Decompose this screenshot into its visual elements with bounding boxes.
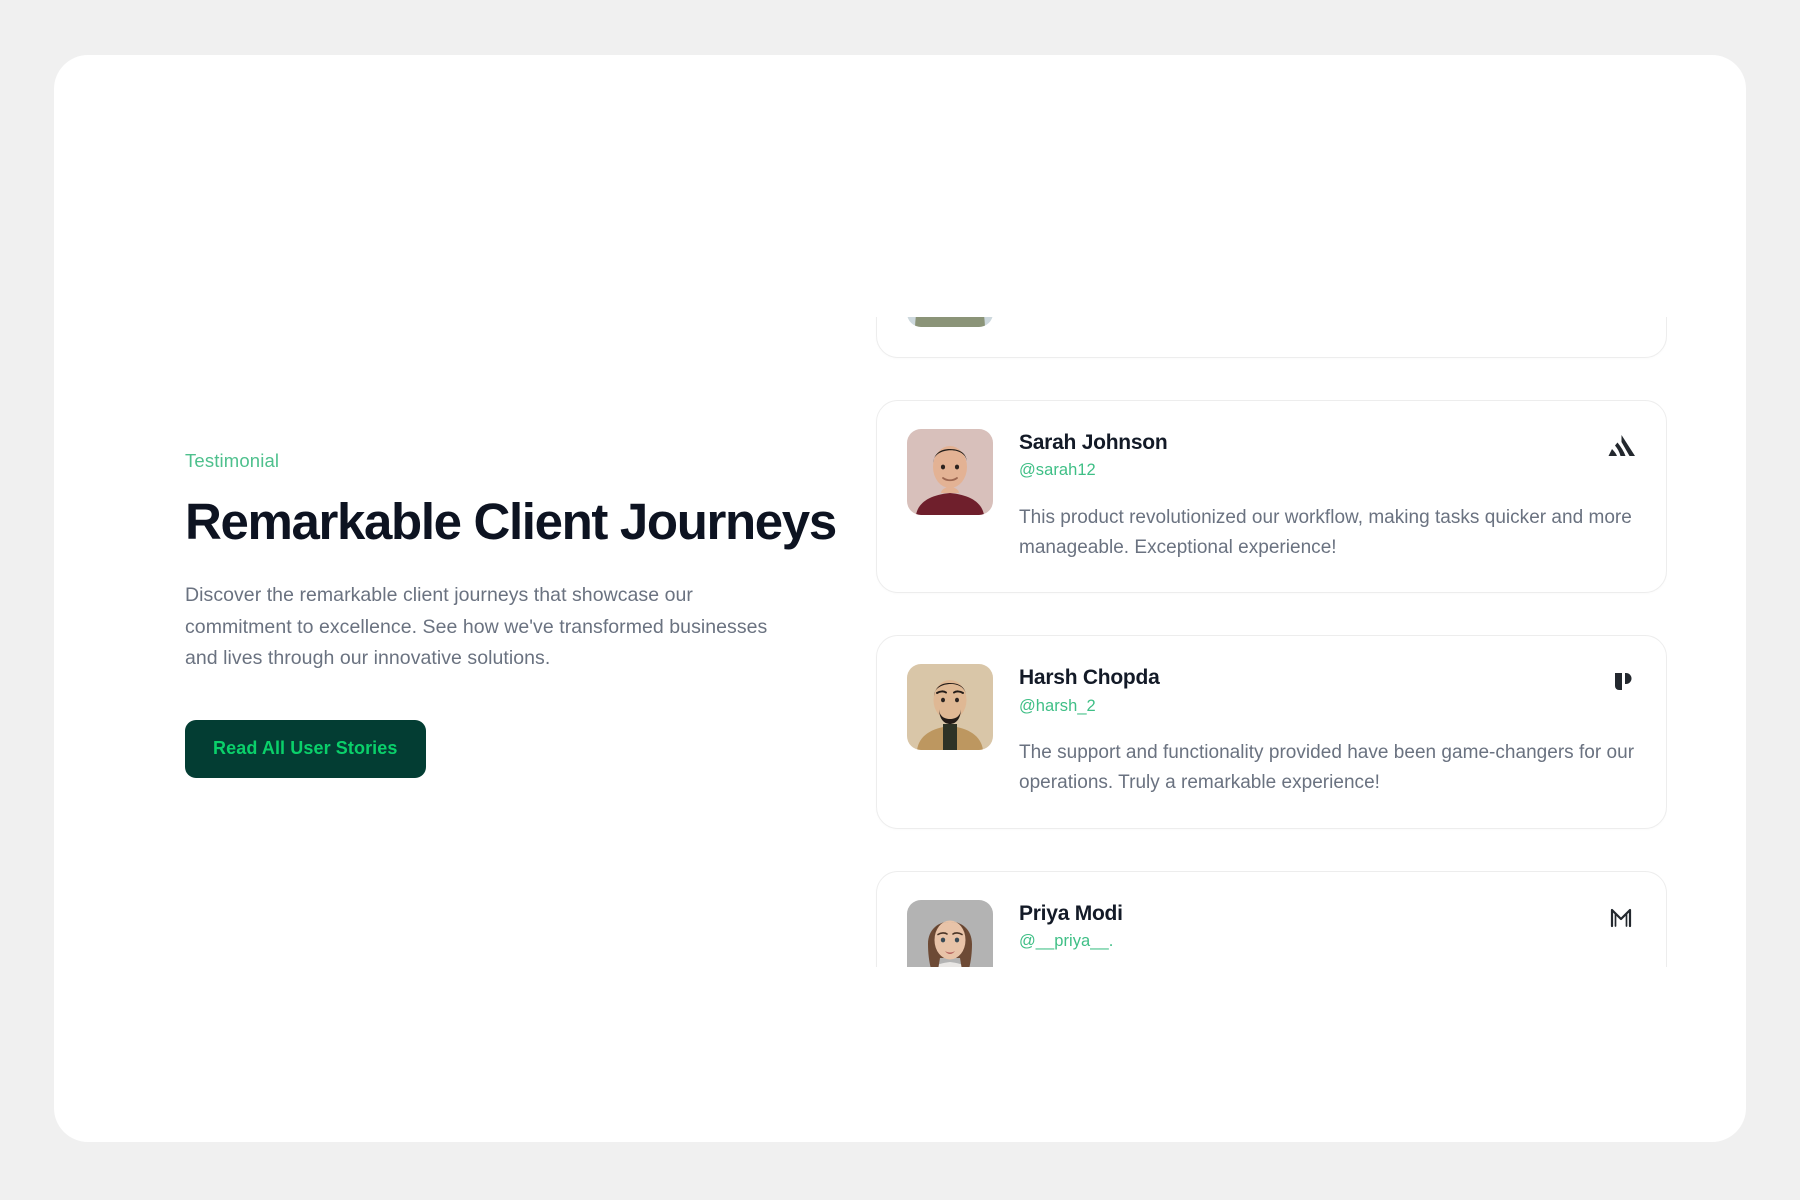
avatar	[907, 429, 993, 515]
testimonial-body: Harsh Chopda @harsh_2 The support and fu…	[1019, 664, 1636, 797]
testimonial-scroll-viewport[interactable]: Outstanding service! The features far su…	[822, 317, 1667, 967]
testimonial-author-handle: @__priya__.	[1019, 931, 1636, 952]
section-eyebrow: Testimonial	[185, 449, 825, 473]
page-canvas: Testimonial Remarkable Client Journeys D…	[0, 0, 1800, 1200]
testimonial-body: Priya Modi @__priya__.	[1019, 900, 1636, 967]
testimonial-author-name: Priya Modi	[1019, 901, 1636, 927]
testimonial-list: Outstanding service! The features far su…	[876, 317, 1667, 967]
testimonial-quote: This product revolutionized our workflow…	[1019, 503, 1636, 563]
avatar	[907, 317, 993, 327]
testimonial-author-name: Harsh Chopda	[1019, 665, 1636, 691]
read-all-user-stories-button[interactable]: Read All User Stories	[185, 720, 426, 778]
testimonial-author-handle: @sarah12	[1019, 460, 1636, 481]
page-title: Remarkable Client Journeys	[185, 493, 825, 550]
testimonial-card[interactable]: Priya Modi @__priya__.	[876, 871, 1667, 967]
testimonial-card[interactable]: Outstanding service! The features far su…	[876, 317, 1667, 358]
testimonial-card[interactable]: Harsh Chopda @harsh_2 The support and fu…	[876, 635, 1667, 828]
testimonial-card[interactable]: Sarah Johnson @sarah12 This product revo…	[876, 400, 1667, 593]
sentry-wave-icon	[1604, 429, 1638, 463]
avatar	[907, 900, 993, 967]
testimonial-author-name: Sarah Johnson	[1019, 430, 1636, 456]
testimonial-author-handle: @harsh_2	[1019, 696, 1636, 717]
avatar	[907, 664, 993, 750]
testimonial-quote: The support and functionality provided h…	[1019, 738, 1636, 798]
intro-column: Testimonial Remarkable Client Journeys D…	[185, 449, 825, 778]
testimonial-quote: Outstanding service! The features far su…	[1019, 317, 1636, 322]
pitch-blocks-icon	[1604, 664, 1638, 698]
testimonial-body: Sarah Johnson @sarah12 This product revo…	[1019, 429, 1636, 562]
m-monogram-icon	[1604, 900, 1638, 934]
testimonial-body: Outstanding service! The features far su…	[1019, 317, 1636, 327]
intro-description: Discover the remarkable client journeys …	[185, 580, 787, 675]
content-panel: Testimonial Remarkable Client Journeys D…	[54, 55, 1746, 1142]
